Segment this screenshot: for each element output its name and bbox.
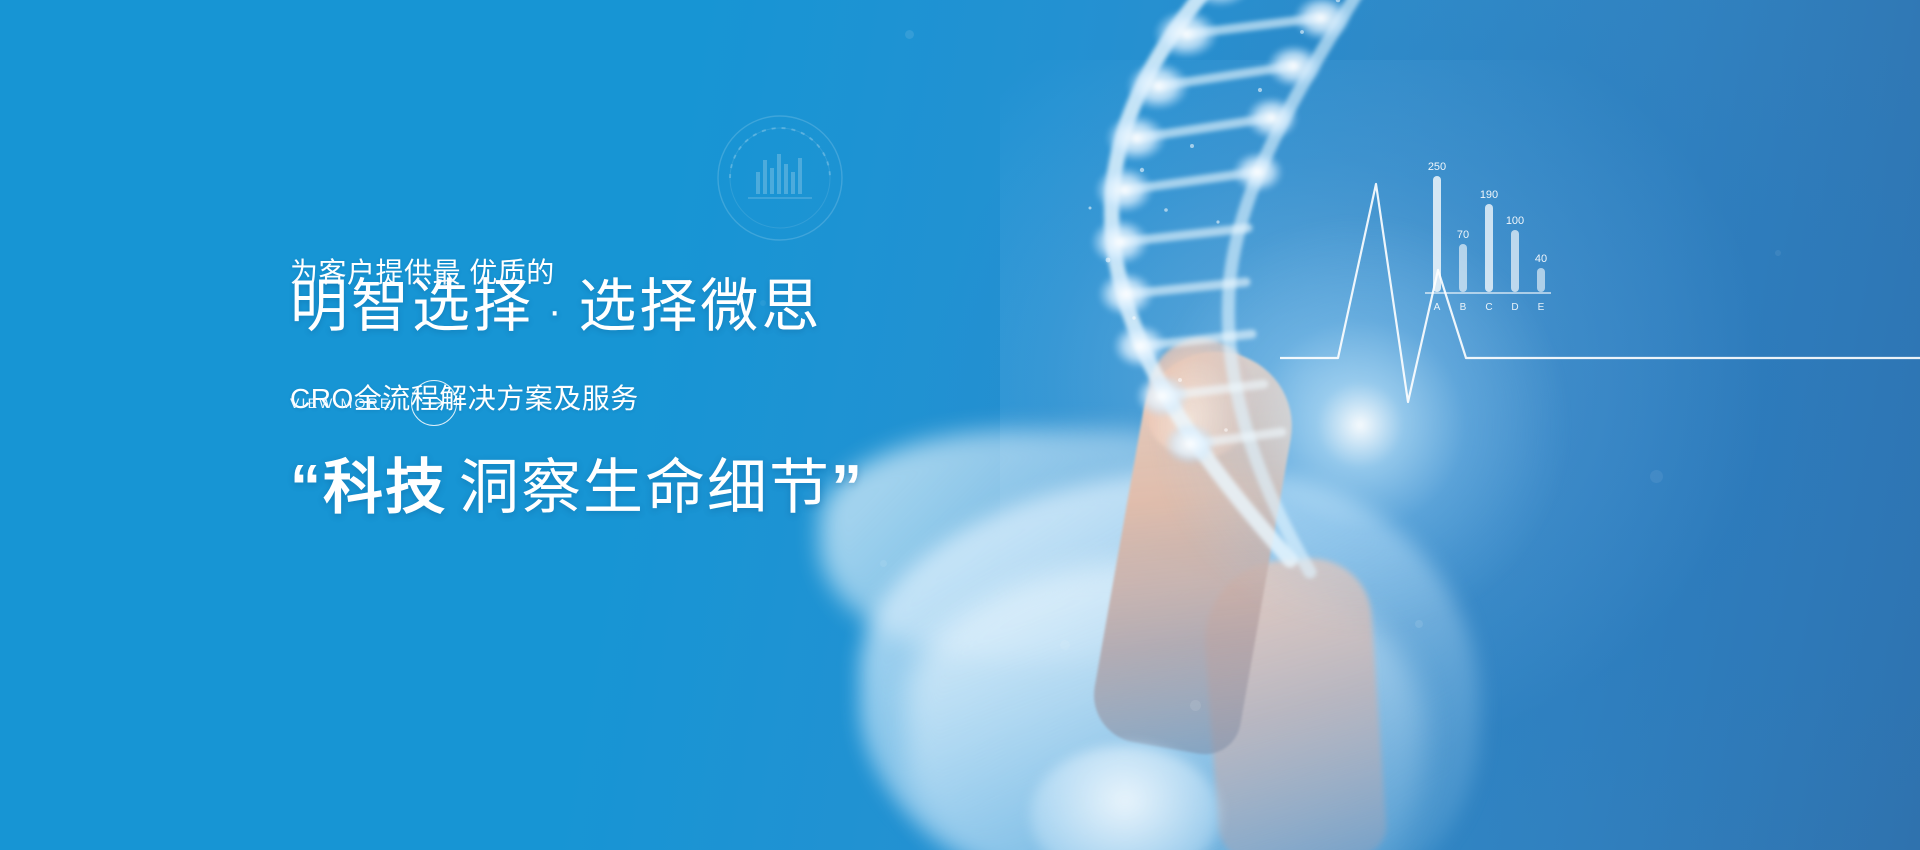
ecg-pulse-line-icon — [1280, 150, 1920, 430]
helix-halo — [1000, 60, 1760, 760]
bokeh-dot — [1650, 470, 1663, 483]
bokeh-dot — [1775, 250, 1781, 256]
knuckle-highlight — [1030, 745, 1220, 850]
bar-chart: 250 70 190 100 40 A B C D E — [1415, 150, 1555, 320]
bar-D — [1511, 230, 1519, 292]
bar-value-A: 250 — [1428, 161, 1446, 173]
bar-label-D: D — [1511, 302, 1518, 313]
arrow-right-icon[interactable] — [411, 380, 457, 426]
hero-headline-right: 选择微思 — [578, 274, 822, 339]
hero-content: 为客户提供最 优质的 CRO全流程解决方案及服务 明智选择·选择微思 VIEW … — [290, 0, 1050, 850]
bar-E — [1537, 268, 1545, 292]
hero-headline-left: 明智选择 — [290, 274, 534, 339]
bar-label-A: A — [1434, 302, 1441, 313]
pointing-finger — [1086, 340, 1303, 760]
quote-open-mark: “ — [290, 453, 323, 522]
hero-headline: 明智选择·选择微思 — [290, 272, 822, 346]
bar-label-B: B — [1460, 302, 1467, 313]
bar-value-D: 100 — [1506, 215, 1524, 227]
bokeh-dot — [1190, 700, 1201, 711]
hero-banner: 250 70 190 100 40 A B C D E — [0, 0, 1920, 850]
helix-core-glow — [1130, 215, 1590, 635]
bar-C — [1485, 204, 1493, 292]
quote-close-mark: ” — [831, 453, 864, 522]
bar-value-C: 190 — [1480, 189, 1498, 201]
bokeh-dot — [1415, 620, 1423, 628]
bar-value-E: 40 — [1535, 253, 1547, 265]
finger-tip — [1139, 330, 1262, 464]
quote-light-text: 洞察生命细节 — [447, 454, 831, 521]
second-finger — [1200, 555, 1389, 850]
bar-A — [1433, 176, 1441, 292]
hero-quote: “科技洞察生命细节” — [290, 450, 864, 526]
bokeh-dot — [1060, 640, 1070, 650]
chart-bars — [1433, 176, 1545, 292]
bar-label-C: C — [1485, 302, 1492, 313]
view-more-button[interactable]: VIEW MORE — [290, 380, 457, 426]
bar-B — [1459, 244, 1467, 292]
hero-headline-separator: · — [534, 289, 578, 333]
quote-strong-text: 科技 — [323, 454, 447, 521]
bar-value-B: 70 — [1457, 229, 1469, 241]
bar-label-E: E — [1538, 302, 1545, 313]
view-more-label: VIEW MORE — [290, 395, 391, 411]
